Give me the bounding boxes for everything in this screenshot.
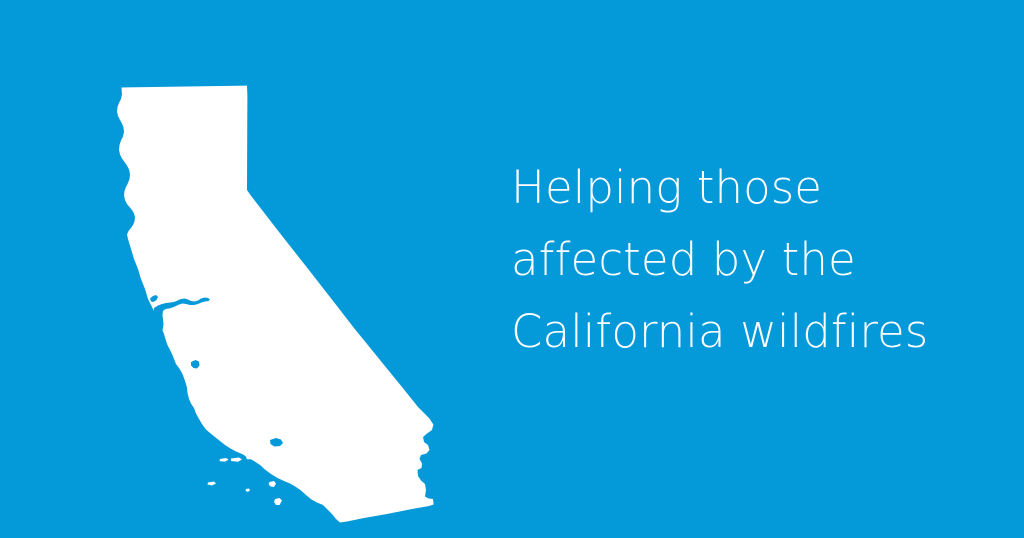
headline: Helping those affected by the California… [511, 152, 981, 368]
santa-catalina-island-shape [269, 481, 277, 487]
san-clemente-island-shape [274, 498, 282, 505]
headline-line-2: affected by the [511, 224, 981, 296]
san-nicolas-island-shape [208, 482, 217, 486]
california-map-illustration [92, 62, 472, 482]
san-miguel-island-shape [220, 458, 229, 462]
california-map-icon [92, 62, 472, 482]
santa-rosa-island-shape [231, 458, 242, 462]
wildfire-relief-banner: Helping those affected by the California… [0, 0, 1024, 538]
headline-line-1: Helping those [511, 152, 981, 224]
headline-line-3: California wildfires [511, 296, 981, 368]
santa-barbara-island-shape [246, 489, 251, 493]
